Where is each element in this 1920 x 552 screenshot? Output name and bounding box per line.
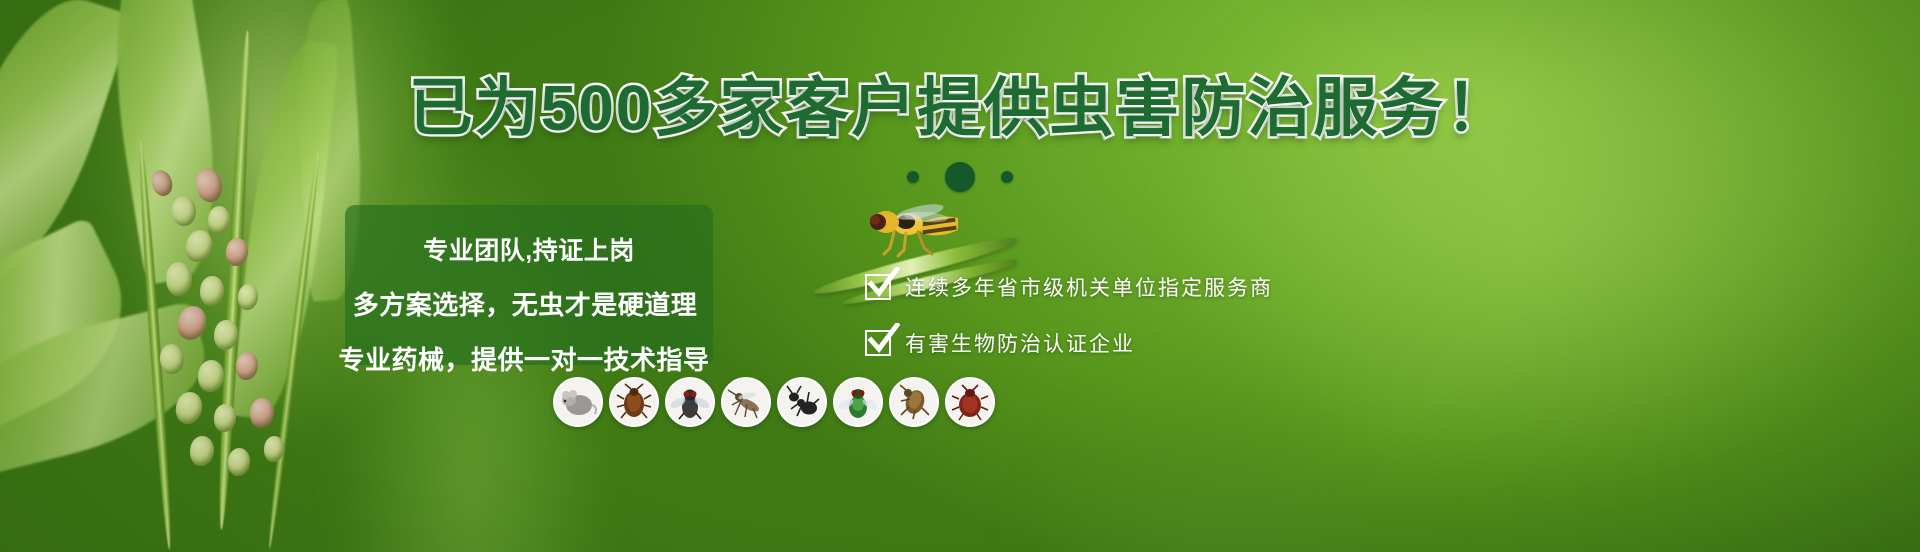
blowfly-icon[interactable]: [833, 377, 883, 427]
fly-icon[interactable]: [665, 377, 715, 427]
checklist-item-label: 连续多年省市级机关单位指定服务商: [905, 272, 1273, 302]
feature-line-1: 专业团队,持证上岗: [345, 231, 713, 267]
checklist-item: 连续多年省市级机关单位指定服务商: [865, 272, 1273, 302]
dot-small-left-icon: [907, 171, 919, 183]
checklist-item: 有害生物防治认证企业: [865, 328, 1273, 358]
cockroach-icon[interactable]: [609, 377, 659, 427]
feature-box: 专业团队,持证上岗 多方案选择，无虫才是硬道理 专业药械，提供一对一技术指导: [345, 205, 713, 365]
checklist-item-label: 有害生物防治认证企业: [905, 328, 1135, 358]
mosquito-icon[interactable]: [721, 377, 771, 427]
checkbox-check-icon: [865, 330, 891, 356]
mouse-icon[interactable]: [553, 377, 603, 427]
credentials-checklist: 连续多年省市级机关单位指定服务商 有害生物防治认证企业: [865, 272, 1273, 358]
ant-icon[interactable]: [777, 377, 827, 427]
dot-large-icon: [945, 162, 975, 192]
pest-icon-row: [553, 377, 995, 427]
banner-headline: 已为500多家客户提供虫害防治服务！: [0, 76, 1920, 140]
pest-control-banner: 已为500多家客户提供虫害防治服务！ 专业团队,持证上岗 多方案选择，无虫才是硬…: [0, 0, 1920, 552]
feature-line-3: 专业药械，提供一对一技术指导: [335, 340, 713, 377]
checkbox-check-icon: [865, 274, 891, 300]
bedbug-icon[interactable]: [945, 377, 995, 427]
decorative-dot-row: [0, 162, 1920, 192]
dot-small-right-icon: [1001, 171, 1013, 183]
flea-icon[interactable]: [889, 377, 939, 427]
feature-line-2: 多方案选择，无虫才是硬道理: [337, 285, 713, 322]
